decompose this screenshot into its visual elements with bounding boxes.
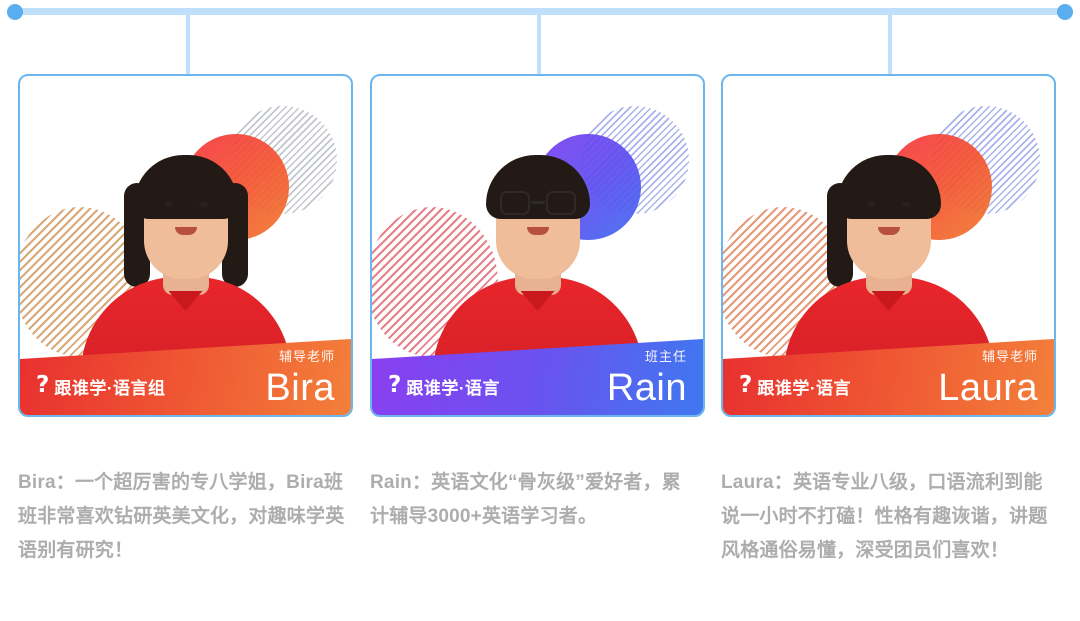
brand-name: 跟谁学·语言 [757, 374, 851, 399]
teacher-description-bira: Bira：一个超厉害的专八学姐，Bira班班非常喜欢钻研英美文化，对趣味学英语别… [18, 466, 348, 568]
teacher-name: Rain [607, 369, 687, 407]
teacher-cards-page: 跟谁学 ? 跟谁学·语言组 辅导老师 Bira [0, 0, 1080, 621]
brand-name: 跟谁学·语言组 [54, 374, 165, 399]
timeline-connector-laura [888, 14, 892, 76]
teacher-card-laura[interactable]: 跟谁学 ? 跟谁学·语言 辅导老师 Laura [721, 74, 1056, 417]
question-mark-logo-icon: ? [36, 374, 49, 397]
glasses-icon [500, 191, 576, 217]
timeline-end-dot [1057, 4, 1073, 20]
timeline-connector-bira [186, 14, 190, 76]
teacher-role-badge: 辅导老师 [982, 346, 1038, 365]
timeline-start-dot [7, 4, 23, 20]
card-canvas: 跟谁学 ? 跟谁学·语言 班主任 Rain [372, 76, 703, 415]
teacher-card-bira[interactable]: 跟谁学 ? 跟谁学·语言组 辅导老师 Bira [18, 74, 353, 417]
card-canvas: 跟谁学 ? 跟谁学·语言组 辅导老师 Bira [20, 76, 351, 415]
card-canvas: 跟谁学 ? 跟谁学·语言 辅导老师 Laura [723, 76, 1054, 415]
timeline-connector-rain [537, 14, 541, 76]
teacher-description-laura: Laura：英语专业八级，口语流利到能说一小时不打磕！性格有趣诙谐，讲题风格通俗… [721, 466, 1051, 568]
brand-lockup: ? 跟谁学·语言组 [36, 374, 166, 399]
question-mark-logo-icon: ? [739, 374, 752, 397]
teacher-card-rain[interactable]: 跟谁学 ? 跟谁学·语言 班主任 Rain [370, 74, 705, 417]
timeline [0, 0, 1080, 24]
teacher-role-badge: 辅导老师 [279, 346, 335, 365]
brand-lockup: ? 跟谁学·语言 [388, 374, 500, 399]
brand-name: 跟谁学·语言 [406, 374, 500, 399]
teacher-card-list: 跟谁学 ? 跟谁学·语言组 辅导老师 Bira [0, 74, 1080, 419]
teacher-description-rain: Rain：英语文化“骨灰级”爱好者，累计辅导3000+英语学习者。 [370, 466, 700, 534]
teacher-name: Bira [265, 369, 335, 407]
teacher-role-badge: 班主任 [645, 346, 687, 365]
brand-lockup: ? 跟谁学·语言 [739, 374, 851, 399]
teacher-name: Laura [938, 369, 1038, 407]
question-mark-logo-icon: ? [388, 374, 401, 397]
